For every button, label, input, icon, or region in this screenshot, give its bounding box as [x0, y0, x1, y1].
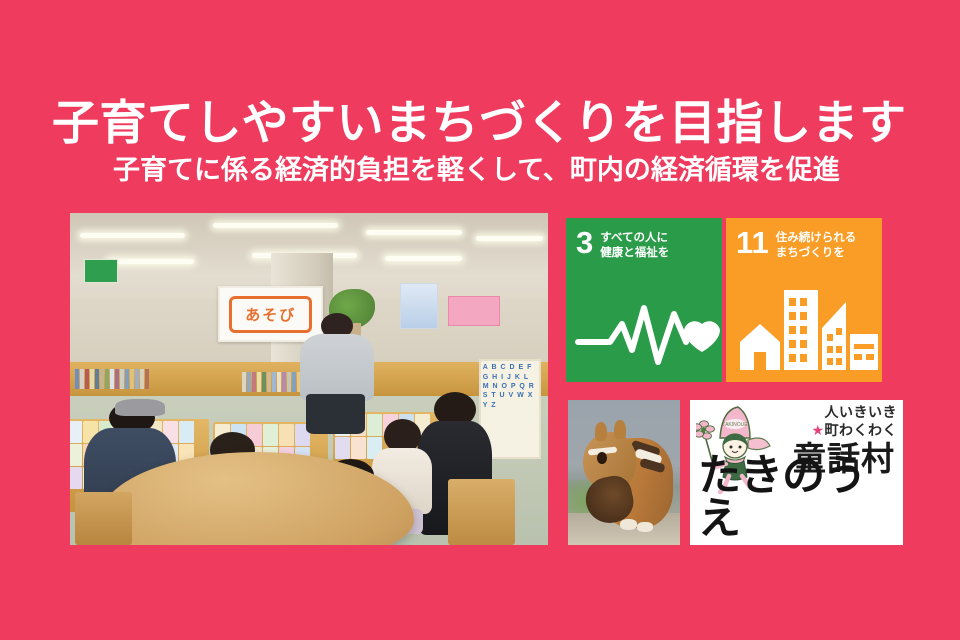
exit-sign-icon: [84, 259, 117, 282]
chipmunk-photo-alt: 松ぼっくりを抱えるシマリス: [0, 0, 1, 1]
ceiling-light: [80, 233, 185, 238]
page-subtitle: 子育てに係る経済的負担を軽くして、町内の経済循環を促進: [113, 155, 913, 186]
sdg-3-header: 3 すべての人に 健康と福祉を: [566, 218, 722, 261]
chipmunk-ear: [595, 422, 607, 441]
slide-root: 子育てしやすいまちづくりを目指します 子育てに係る経済的負担を軽くして、町内の経…: [0, 0, 960, 640]
sdg-3-number: 3: [576, 229, 593, 258]
person-standing: [295, 313, 376, 433]
logo-tagline-line2: ★町わくわく: [811, 422, 897, 440]
sdg-11-header: 11 住み続けられる まちづくりを: [726, 218, 882, 261]
logo-tagline-line2-text: 町わくわく: [825, 422, 898, 438]
sdg-3-label-line2: 健康と福祉を: [600, 247, 669, 259]
chipmunk-ear: [614, 420, 626, 439]
sdg-badge-3[interactable]: 3 すべての人に 健康と福祉を: [566, 218, 722, 382]
svg-text:TAKINOUE: TAKINOUE: [722, 422, 748, 428]
pink-notice-board: [448, 296, 501, 326]
sdg-3-label: すべての人に 健康と福祉を: [600, 229, 669, 261]
ceiling-light: [476, 236, 543, 241]
chipmunk-photo: [568, 400, 680, 545]
sdg-3-label-line1: すべての人に: [600, 232, 668, 244]
takinoue-logo[interactable]: TAKINOUE: [690, 400, 903, 545]
logo-town-text: たきのうえ: [698, 455, 896, 541]
sdg-11-label-line2: まちづくりを: [776, 247, 845, 259]
logo-tagline: 人いきいき ★町わくわく: [811, 404, 897, 439]
sdg-11-label: 住み続けられる まちづくりを: [776, 229, 857, 261]
heartbeat-icon: [566, 284, 722, 370]
library-photo-alt: 町立図書館の児童コーナーで絵本を楽しむ親子: [0, 0, 1, 1]
logo-tagline-line1: 人いきいき: [811, 404, 897, 422]
chipmunk-paw: [620, 519, 638, 531]
ceiling-light: [108, 259, 194, 264]
ceiling-light: [385, 256, 461, 261]
chipmunk-paw: [637, 522, 653, 532]
chair: [75, 492, 132, 545]
sdg-11-label-line1: 住み続けられる: [776, 232, 857, 244]
chair: [448, 479, 515, 545]
ceiling-light: [366, 230, 462, 235]
ceiling-light: [213, 223, 337, 228]
page-title: 子育てしやすいまちづくりを目指します: [52, 97, 912, 149]
sdg-badge-11[interactable]: 11 住み続けられる まちづくりを: [726, 218, 882, 382]
book-row: [75, 369, 190, 389]
cityscape-icon: [726, 284, 882, 370]
library-photo: あそび: [70, 213, 548, 545]
sdg-11-number: 11: [736, 229, 769, 258]
star-icon: ★: [811, 422, 824, 438]
chipmunk-eye: [597, 452, 607, 464]
library-scene: あそび: [70, 213, 548, 545]
wall-poster: [400, 283, 438, 329]
